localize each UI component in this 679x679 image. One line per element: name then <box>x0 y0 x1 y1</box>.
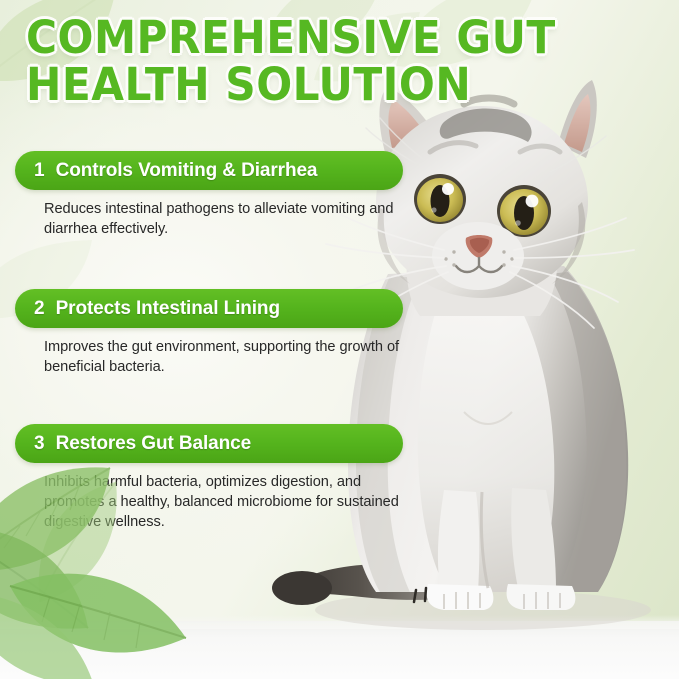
feature-label-2: Protects Intestinal Lining <box>56 299 280 318</box>
feature-description-1: Reduces intestinal pathogens to alleviat… <box>44 199 415 239</box>
feature-block-2: 2 Protects Intestinal Lining Improves th… <box>15 289 415 377</box>
page-title: COMPREHENSIVE GUT HEALTH SOLUTION <box>26 14 616 108</box>
feature-number-3: 3 <box>34 434 45 453</box>
gut-health-infographic: COMPREHENSIVE GUT HEALTH SOLUTION 1 Cont… <box>0 0 679 679</box>
title-line-1: COMPREHENSIVE GUT <box>26 14 581 61</box>
title-line-2: HEALTH SOLUTION <box>26 61 581 108</box>
feature-description-2: Improves the gut environment, supporting… <box>44 337 415 377</box>
feature-label-3: Restores Gut Balance <box>56 434 251 453</box>
feature-label-1: Controls Vomiting & Diarrhea <box>56 161 318 180</box>
feature-description-3: Inhibits harmful bacteria, optimizes dig… <box>44 472 415 532</box>
feature-pill-2: 2 Protects Intestinal Lining <box>15 289 403 328</box>
feature-number-2: 2 <box>34 299 45 318</box>
feature-block-1: 1 Controls Vomiting & Diarrhea Reduces i… <box>15 151 415 239</box>
feature-block-3: 3 Restores Gut Balance Inhibits harmful … <box>15 424 415 532</box>
feature-pill-1: 1 Controls Vomiting & Diarrhea <box>15 151 403 190</box>
floor-surface <box>0 621 679 679</box>
feature-number-1: 1 <box>34 161 45 180</box>
feature-pill-3: 3 Restores Gut Balance <box>15 424 403 463</box>
